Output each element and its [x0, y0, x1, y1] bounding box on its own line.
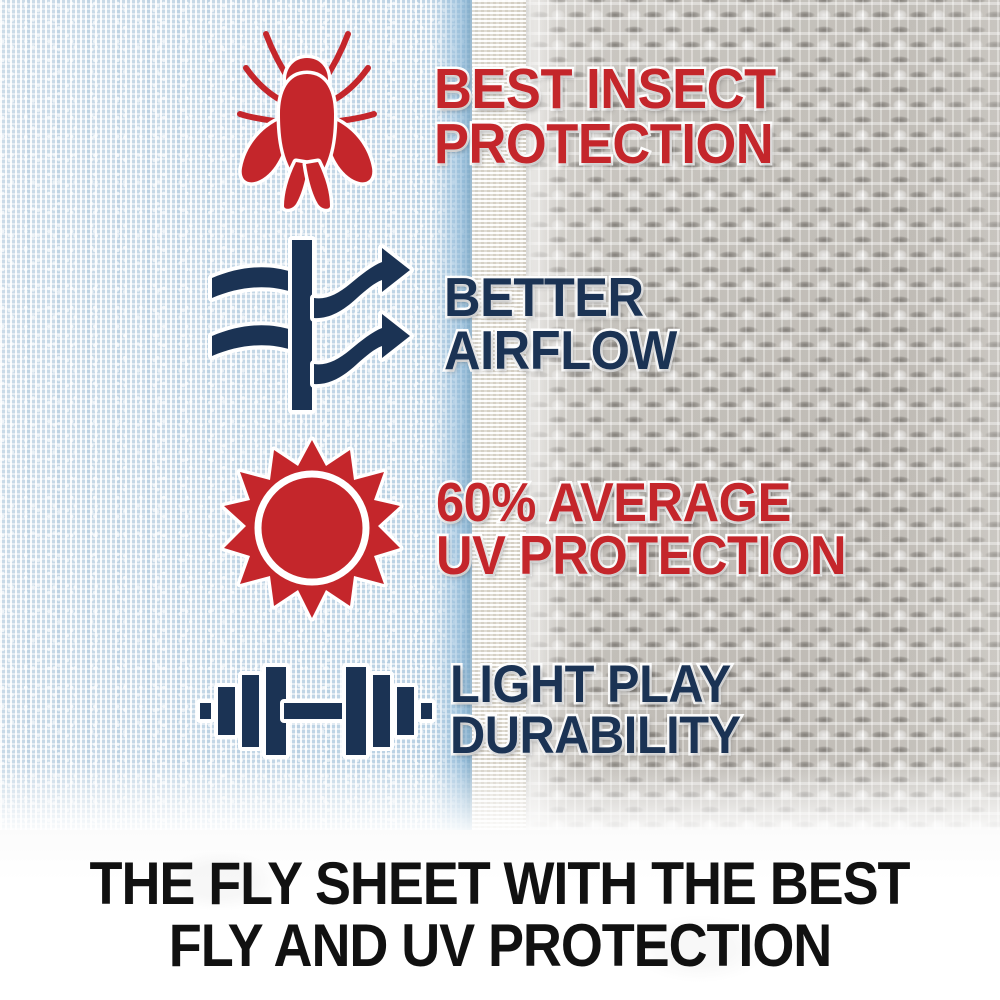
feature-label-durability: LIGHT PLAY DURABILITY: [450, 660, 741, 762]
dumbbell-icon: [196, 663, 436, 759]
airflow-arrows-icon: [210, 244, 410, 404]
feature-label-uv-protection: 60% AVERAGE UV PROTECTION: [436, 476, 846, 582]
feature-item-insect-protection: BEST INSECT PROTECTION: [222, 22, 805, 212]
fly-icon: [222, 22, 392, 212]
product-feature-poster: BEST INSECT PROTECTION BETTER AIRFLOW: [0, 0, 1000, 1000]
tagline-line-2: FLY AND UV PROTECTION: [169, 915, 831, 977]
tagline-line-1: THE FLY SHEET WITH THE BEST: [90, 853, 910, 915]
bottom-tagline-banner: THE FLY SHEET WITH THE BEST FLY AND UV P…: [0, 830, 1000, 1000]
sun-icon: [222, 438, 402, 620]
feature-list: BEST INSECT PROTECTION BETTER AIRFLOW: [0, 0, 1000, 830]
feature-item-better-airflow: BETTER AIRFLOW: [210, 244, 697, 404]
feature-item-durability: LIGHT PLAY DURABILITY: [196, 660, 766, 762]
feature-item-uv-protection: 60% AVERAGE UV PROTECTION: [222, 438, 882, 620]
feature-label-insect-protection: BEST INSECT PROTECTION: [434, 62, 776, 171]
feature-label-better-airflow: BETTER AIRFLOW: [444, 271, 677, 377]
